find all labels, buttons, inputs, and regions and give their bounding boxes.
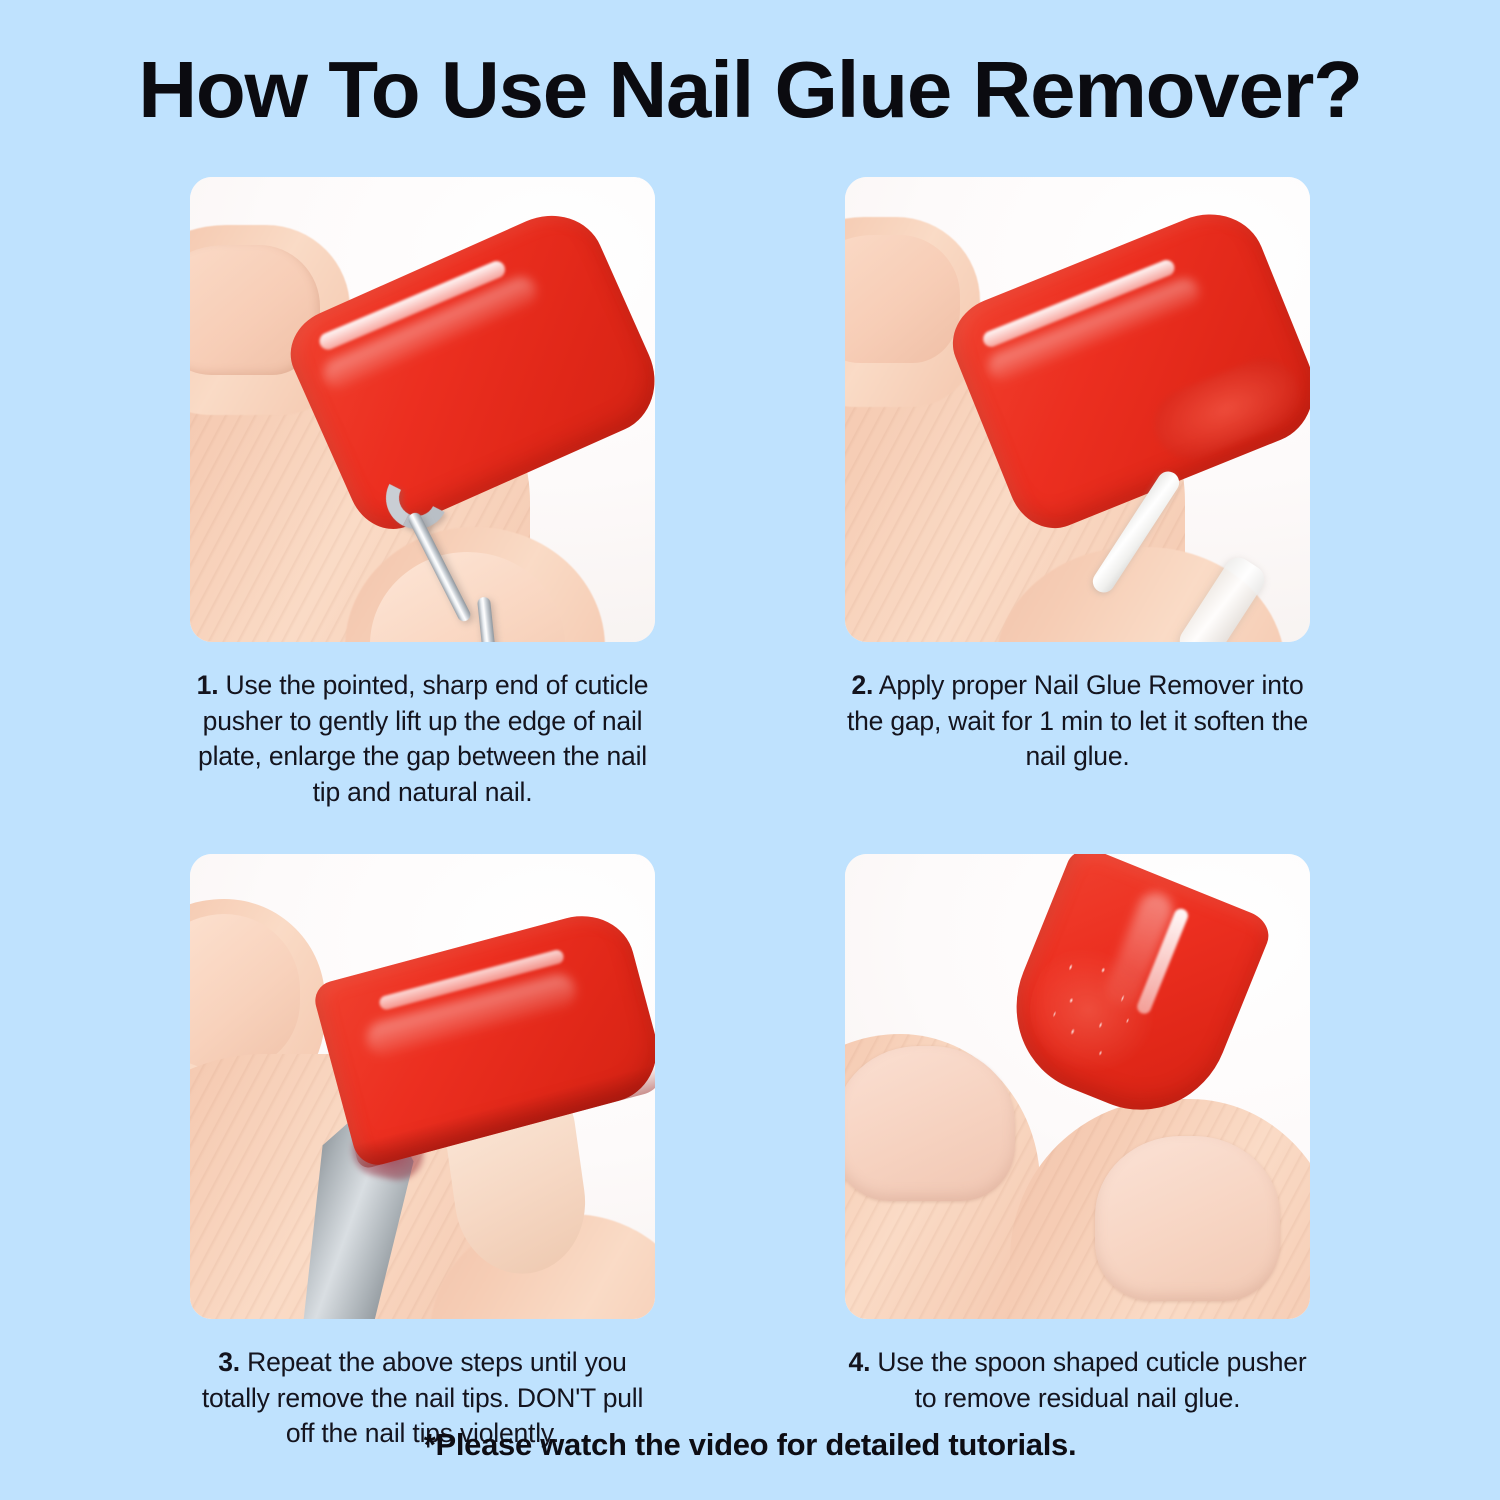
step-2-number: 2. (852, 670, 874, 700)
step-2-text: Apply proper Nail Glue Remover into the … (847, 670, 1308, 771)
step-1-number: 1. (197, 670, 219, 700)
bare-nail-right (1095, 1136, 1280, 1301)
steps-row-2: 3. Repeat the above steps until you tota… (0, 854, 1500, 1452)
step-3-photo (190, 854, 655, 1319)
step-1-text: Use the pointed, sharp end of cuticle pu… (198, 670, 648, 807)
step-2-caption: 2. Apply proper Nail Glue Remover into t… (845, 668, 1310, 775)
step-4-photo (845, 854, 1310, 1319)
step-4: 4. Use the spoon shaped cuticle pusher t… (845, 854, 1310, 1452)
step-1-photo (190, 177, 655, 642)
step-4-text: Use the spoon shaped cuticle pusher to r… (877, 1347, 1306, 1413)
footer-note: *Please watch the video for detailed tut… (0, 1427, 1500, 1463)
step-4-number: 4. (849, 1347, 871, 1377)
step-2-photo (845, 177, 1310, 642)
page-title: How To Use Nail Glue Remover? (0, 47, 1500, 133)
step-4-caption: 4. Use the spoon shaped cuticle pusher t… (845, 1345, 1310, 1416)
steps-row-1: 1. Use the pointed, sharp end of cuticle… (0, 177, 1500, 810)
step-2: 2. Apply proper Nail Glue Remover into t… (845, 177, 1310, 810)
infographic-page: How To Use Nail Glue Remover? (0, 0, 1500, 1500)
step-3-number: 3. (218, 1347, 240, 1377)
natural-nail-upper (845, 235, 960, 363)
step-3: 3. Repeat the above steps until you tota… (190, 854, 655, 1452)
step-1: 1. Use the pointed, sharp end of cuticle… (190, 177, 655, 810)
bare-nail-left (845, 1046, 1015, 1201)
steps-grid: 1. Use the pointed, sharp end of cuticle… (0, 177, 1500, 1452)
step-1-caption: 1. Use the pointed, sharp end of cuticle… (190, 668, 655, 810)
